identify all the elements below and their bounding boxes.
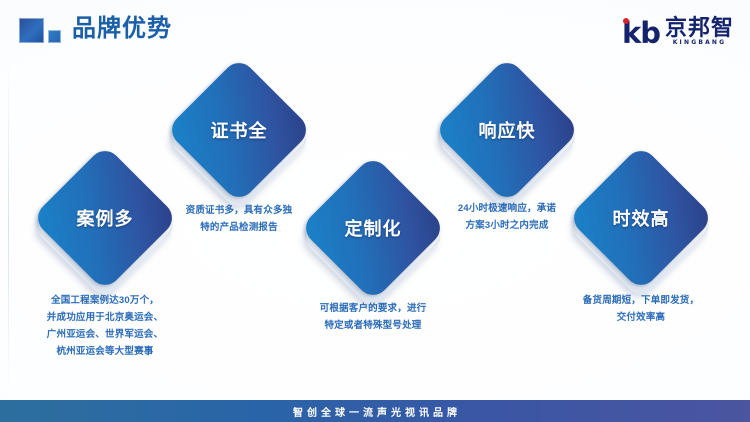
logo-chinese-name: 京邦智 (665, 16, 734, 39)
diamond-label-2: 证书全 (187, 78, 291, 182)
diamond-shape-4[interactable]: 响应快 (455, 78, 559, 182)
logo-mark-text: kb (622, 19, 660, 48)
advantage-caption-5: 备货周期短，下单即发货， 交付效率高 (546, 292, 736, 326)
diamond-label-4: 响应快 (455, 78, 559, 182)
diamond-shape-2[interactable]: 证书全 (187, 78, 291, 182)
diamond-label-5: 时效高 (589, 166, 693, 270)
advantage-caption-1: 全国工程案例达30万个， 并成功应用于北京奥运会、 广州亚运会、世界军运会、 杭… (10, 292, 200, 360)
diamond-label-3: 定制化 (321, 176, 425, 280)
logo-red-dot-icon (623, 18, 629, 24)
logo-english-name: KINGBANG (665, 39, 734, 47)
diamond-shape-1[interactable]: 案例多 (53, 166, 157, 270)
brand-logo: kb 京邦智 KINGBANG (622, 14, 734, 48)
page-title: 品牌优势 (72, 14, 172, 44)
decorative-square-large-icon (19, 18, 44, 43)
slide-footer: 智创全球一流声光视讯品牌 (0, 400, 750, 422)
footer-slogan: 智创全球一流声光视讯品牌 (289, 404, 461, 419)
left-edge-rule (8, 58, 9, 394)
diamond-label-1: 案例多 (53, 166, 157, 270)
decorative-square-small-icon (48, 30, 61, 43)
logo-wordmark: 京邦智 KINGBANG (665, 16, 734, 48)
diamond-shape-3[interactable]: 定制化 (321, 176, 425, 280)
slide-canvas: 品牌优势 kb 京邦智 KINGBANG 案例多 全国工程案例达30万个， 并成… (0, 0, 750, 422)
advantage-caption-3: 可根据客户的要求，进行 特定或者特殊型号处理 (278, 300, 468, 334)
slide-header: 品牌优势 kb 京邦智 KINGBANG (0, 0, 750, 58)
diamond-shape-5[interactable]: 时效高 (589, 166, 693, 270)
